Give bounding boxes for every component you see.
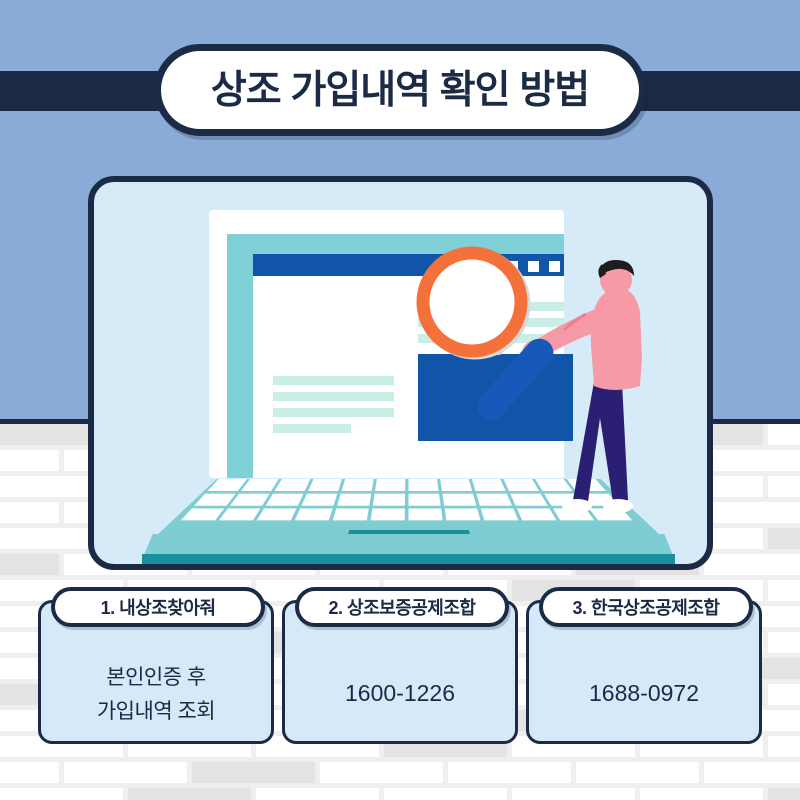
info-card-2-phone: 1600-1226	[345, 680, 455, 707]
brick	[0, 554, 59, 575]
brick	[128, 788, 251, 800]
browser-title-bar	[253, 254, 564, 276]
brick	[576, 762, 699, 783]
brick	[512, 788, 635, 800]
content-block	[418, 354, 573, 441]
brick	[768, 528, 800, 549]
page-title-pill: 상조 가입내역 확인 방법	[154, 44, 646, 136]
brick	[768, 788, 800, 800]
text-line	[273, 376, 394, 385]
brick	[768, 476, 800, 497]
brick	[384, 788, 507, 800]
info-card-1[interactable]: 1. 내상조찾아줘 본인인증 후 가입내역 조회	[38, 600, 274, 744]
info-card-1-pill: 1. 내상조찾아줘	[51, 587, 265, 627]
brick	[448, 762, 571, 783]
laptop-keyboard-keys	[156, 479, 661, 525]
info-card-3-label: 3. 한국상조공제조합	[573, 594, 720, 620]
laptop-illustration-panel	[88, 176, 713, 570]
text-line	[418, 302, 564, 311]
close-box-icon	[549, 261, 560, 272]
browser-mockup	[253, 254, 564, 478]
brick	[0, 502, 59, 523]
brick	[768, 424, 800, 445]
text-line	[273, 392, 394, 401]
text-line	[273, 408, 394, 417]
brick	[192, 762, 315, 783]
info-card-3-body: 1688-0972	[529, 645, 759, 741]
info-card-1-line-1: 본인인증 후	[106, 661, 205, 691]
brick	[704, 762, 800, 783]
info-card-3-pill: 3. 한국상조공제조합	[539, 587, 753, 627]
info-card-2-label: 2. 상조보증공제조합	[329, 594, 476, 620]
person-head	[600, 264, 632, 296]
brick	[704, 502, 800, 523]
info-card-1-line-2: 가입내역 조회	[97, 695, 215, 725]
page-title: 상조 가입내역 확인 방법	[211, 71, 589, 110]
brick	[704, 554, 800, 575]
brick	[0, 762, 59, 783]
info-card-1-body: 본인인증 후 가입내역 조회	[41, 645, 271, 741]
brick	[0, 788, 123, 800]
minimize-box-icon	[507, 261, 518, 272]
info-card-1-label: 1. 내상조찾아줘	[101, 594, 216, 620]
info-card-2-body: 1600-1226	[285, 645, 515, 741]
info-card-2[interactable]: 2. 상조보증공제조합 1600-1226	[282, 600, 518, 744]
brick	[320, 762, 443, 783]
brick	[640, 788, 763, 800]
info-card-2-pill: 2. 상조보증공제조합	[295, 587, 509, 627]
info-cards-row: 1. 내상조찾아줘 본인인증 후 가입내역 조회 2. 상조보증공제조합 160…	[0, 594, 800, 750]
brick	[704, 450, 800, 471]
text-line	[418, 318, 564, 327]
info-card-3[interactable]: 3. 한국상조공제조합 1688-0972	[526, 600, 762, 744]
person-hair	[600, 260, 634, 278]
text-line	[418, 334, 564, 343]
info-card-3-phone: 1688-0972	[589, 680, 699, 707]
brick	[64, 762, 187, 783]
maximize-box-icon	[528, 261, 539, 272]
text-line	[273, 424, 351, 433]
person-sweater-body	[591, 288, 642, 363]
infographic-canvas: 상조 가입내역 확인 방법	[0, 0, 800, 800]
laptop-base-front	[142, 554, 675, 570]
brick	[256, 788, 379, 800]
brick	[0, 450, 59, 471]
